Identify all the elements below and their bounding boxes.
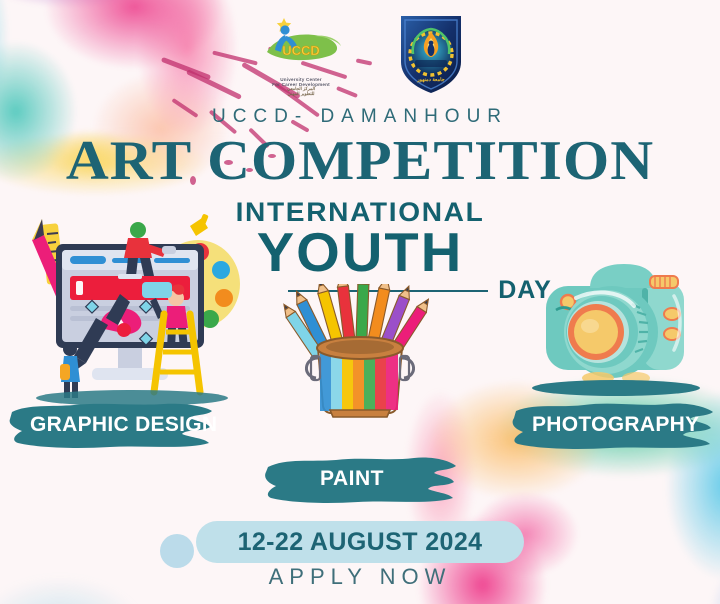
uccd-logo-mark: UCCD (253, 12, 349, 70)
shield-crest-icon: جامعة دمنهور (395, 12, 467, 96)
poster-canvas: UCCD University Center For Career Develo… (0, 0, 720, 604)
camera-illustration (524, 248, 706, 398)
category-label-graphic-design: GRAPHIC DESIGN (6, 413, 217, 437)
svg-text:جامعة دمنهور: جامعة دمنهور (416, 77, 445, 83)
category-banner-paint[interactable]: PAINT (262, 452, 460, 506)
category-banner-photography[interactable]: PHOTOGRAPHY (508, 398, 720, 452)
uccd-logo: UCCD University Center For Career Develo… (253, 12, 349, 97)
category-banner-graphic-design[interactable]: GRAPHIC DESIGN (6, 398, 218, 452)
uccd-line-ar2: للتطوير المهني (253, 92, 349, 97)
kicker-text: UCCD- DAMANHOUR (0, 106, 720, 128)
event-dates-pill: 12-22 AUGUST 2024 (196, 521, 524, 563)
page-title: ART COMPETITION (0, 134, 720, 189)
apply-now-text[interactable]: APPLY NOW (0, 564, 720, 590)
watercolor-dot (160, 534, 194, 568)
svg-text:UCCD: UCCD (282, 43, 320, 58)
university-crest-logo: جامعة دمنهور (395, 12, 467, 101)
category-label-paint: PAINT (262, 467, 384, 491)
event-dates-text: 12-22 AUGUST 2024 (238, 528, 483, 557)
uccd-logo-text: University Center For Career Development… (253, 77, 349, 97)
logo-row: UCCD University Center For Career Develo… (0, 12, 720, 101)
pencil-pot-illustration (282, 284, 437, 420)
graphic-design-illustration (14, 206, 242, 406)
category-label-photography: PHOTOGRAPHY (508, 413, 699, 437)
